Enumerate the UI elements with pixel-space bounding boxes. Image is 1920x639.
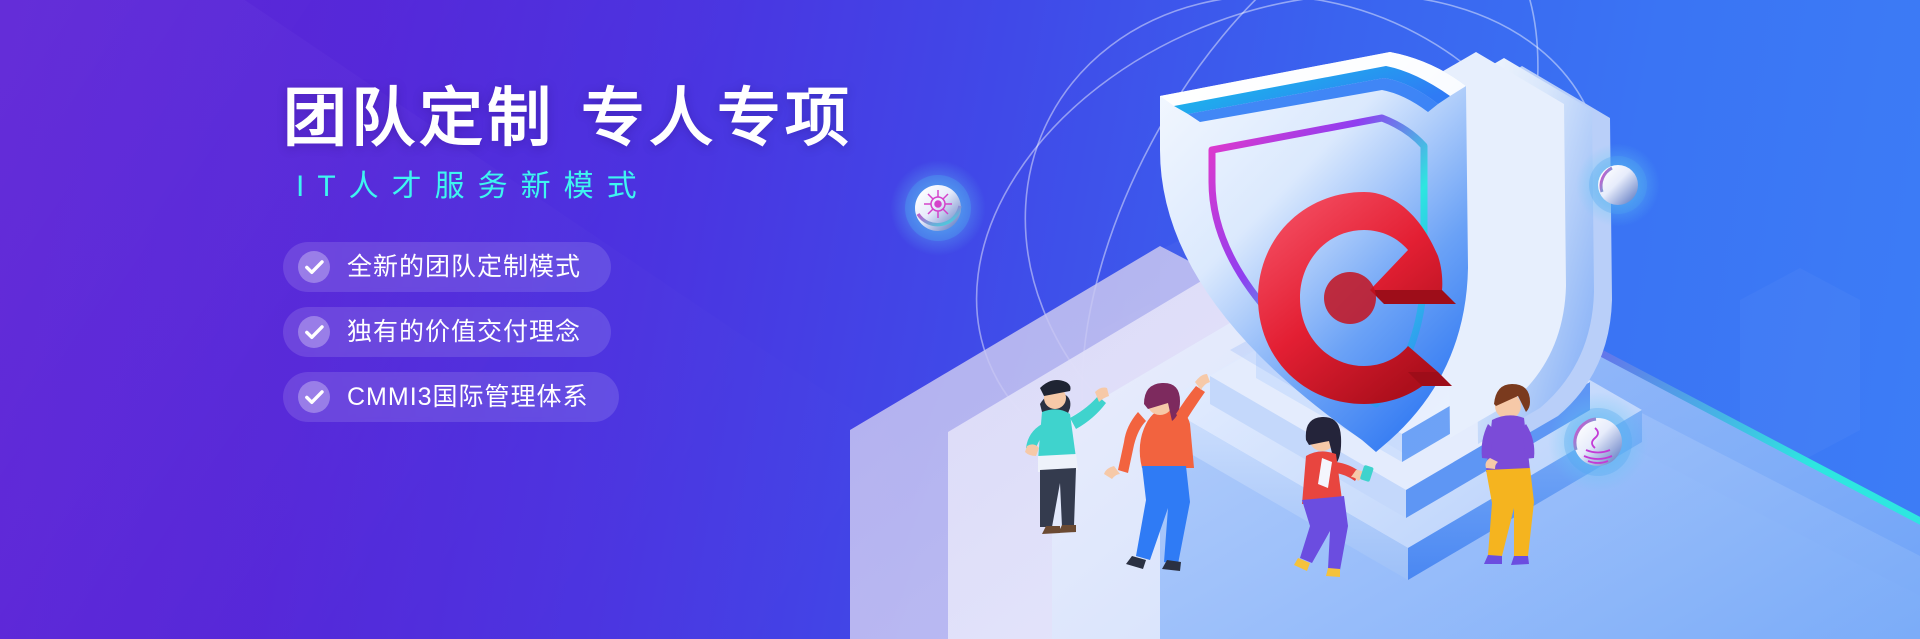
- check-icon: [298, 316, 330, 348]
- check-icon: [298, 381, 330, 413]
- feature-pill-label: 独有的价值交付理念: [347, 320, 581, 345]
- feature-pill-3[interactable]: CMMI3国际管理体系: [283, 372, 619, 422]
- hero-illustration: [690, 0, 1920, 639]
- feature-pill-label: CMMI3国际管理体系: [347, 385, 589, 410]
- circuit-icon: [924, 190, 952, 218]
- title-part-1: 团队定制: [283, 82, 555, 154]
- check-icon: [298, 251, 330, 283]
- feature-pill-1[interactable]: 全新的团队定制模式: [283, 242, 611, 292]
- orb-plain: [1576, 143, 1660, 227]
- hero-banner: 团队定制专人专项 IT人才服务新模式 全新的团队定制模式 独有的价值交付理念: [0, 0, 1920, 639]
- feature-pill-label: 全新的团队定制模式: [347, 255, 581, 280]
- feature-pill-2[interactable]: 独有的价值交付理念: [283, 307, 611, 357]
- orb-java: [1548, 392, 1648, 492]
- orb-circuit: [890, 160, 986, 256]
